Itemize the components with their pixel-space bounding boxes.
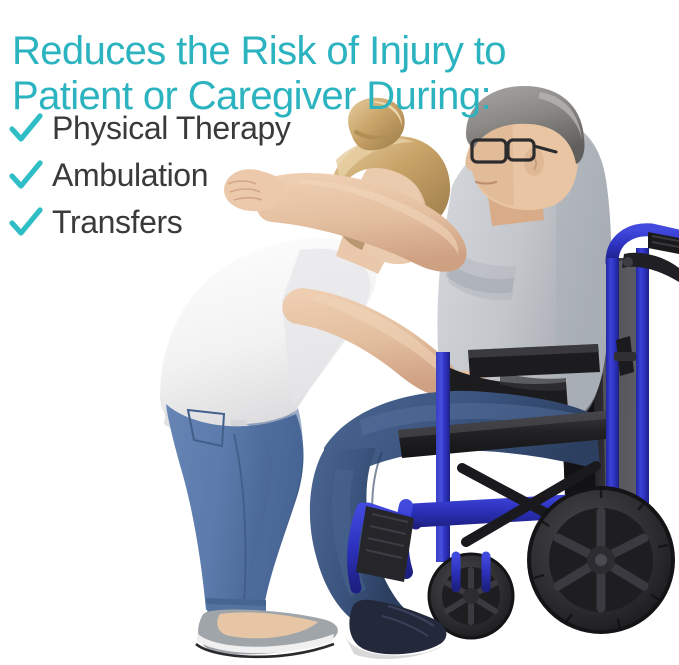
- benefit-list: Physical Therapy Ambulation Transfers: [6, 104, 290, 245]
- list-item: Transfers: [6, 198, 290, 245]
- woman-torso: [160, 238, 376, 448]
- check-icon: [6, 202, 46, 242]
- list-item-label: Transfers: [52, 205, 182, 239]
- list-item: Ambulation: [6, 151, 290, 198]
- woman-shoe: [196, 609, 338, 656]
- list-item-label: Physical Therapy: [52, 111, 290, 145]
- product-feature-graphic: Reduces the Risk of Injury to Patient or…: [0, 0, 679, 665]
- check-icon: [6, 108, 46, 148]
- woman-legs: [166, 404, 304, 620]
- list-item-label: Ambulation: [52, 158, 208, 192]
- list-item: Physical Therapy: [6, 104, 290, 151]
- check-icon: [6, 155, 46, 195]
